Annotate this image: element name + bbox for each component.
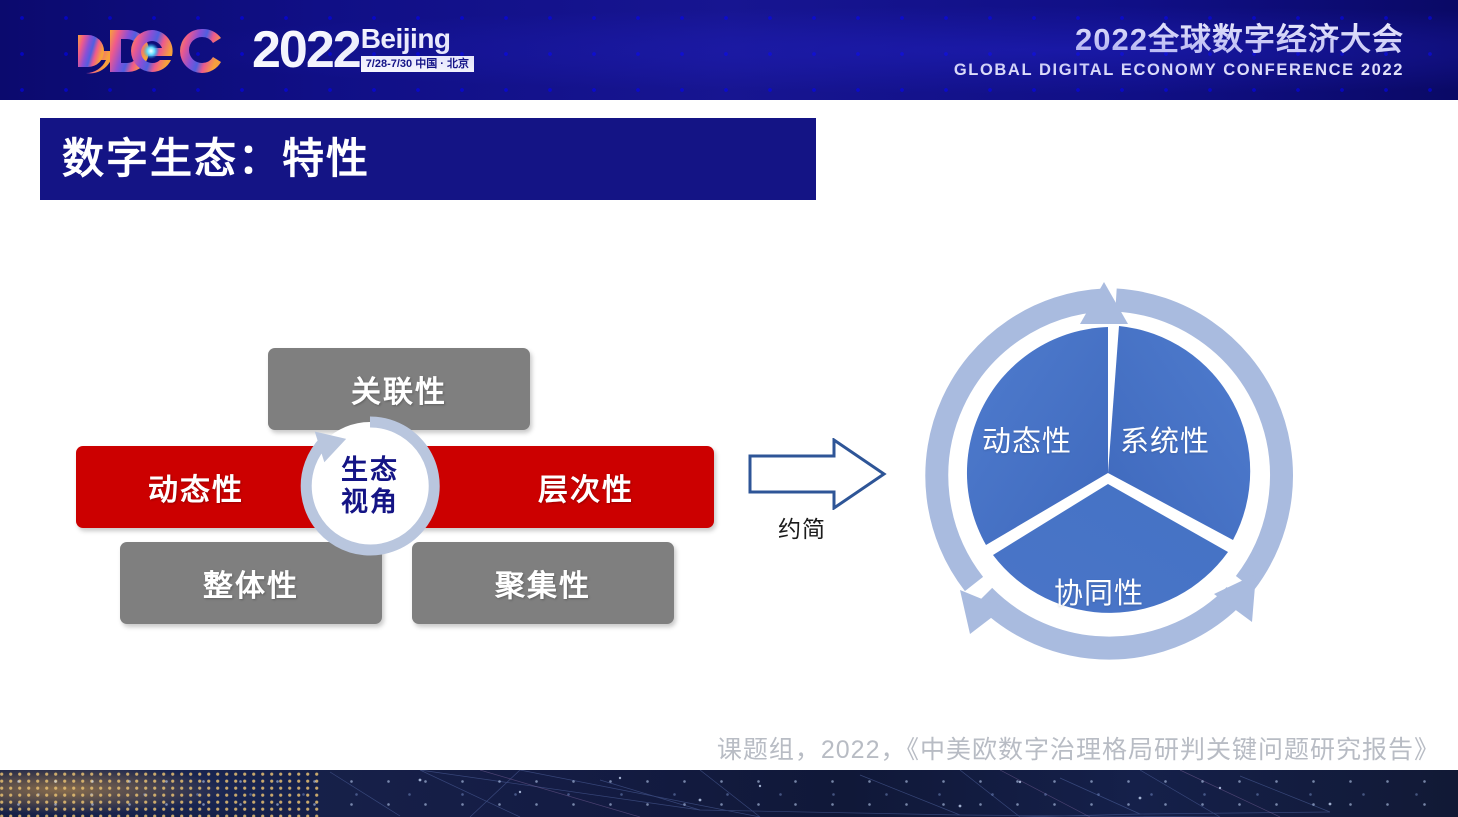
slide-title-bar: 数字生态：特性	[40, 118, 816, 200]
arrow-label: 约简	[778, 510, 826, 544]
segment-label-systemic: 系统性	[1120, 418, 1210, 460]
segment-label-dynamic: 动态性	[982, 418, 1072, 460]
page-title: 数字生态：特性	[62, 136, 370, 182]
banner-dot-pattern	[0, 770, 1458, 817]
brand-date-badge: 7/28-7/30 中国 · 北京	[361, 56, 474, 72]
attribute-box-label: 聚集性	[495, 561, 591, 605]
page-header: 2022 Beijing 7/28-7/30 中国 · 北京 2022全球数字经…	[0, 0, 1458, 100]
attribute-box-aggregation[interactable]: 聚集性	[412, 542, 674, 624]
conference-title-cn: 2022全球数字经济大会	[954, 22, 1404, 58]
reduction-arrow-block: 约简	[748, 438, 898, 550]
center-circle: 生态 视角	[306, 422, 434, 550]
ecology-perspective-diagram: 关联性 动态性 层次性 整体性 聚集性 生态 视角	[60, 330, 740, 650]
three-segment-cycle-diagram: 动态性 系统性 协同性	[908, 278, 1308, 668]
attribute-box-label: 整体性	[203, 561, 299, 605]
gdec-logo	[56, 24, 226, 78]
citation-text: 课题组，2022，《中美欧数字治理格局研判关键问题研究报告》	[717, 730, 1440, 766]
attribute-box-label-dynamic: 动态性	[148, 465, 244, 509]
center-circle-text: 生态 视角	[341, 454, 399, 518]
bottom-banner	[0, 770, 1458, 817]
attribute-box-label-hierarchy: 层次性	[538, 465, 634, 509]
brand-city: Beijing	[361, 24, 451, 54]
attribute-box-label: 关联性	[351, 367, 447, 411]
center-circle-line2: 视角	[341, 486, 399, 518]
right-arrow-icon	[748, 438, 888, 510]
center-circle-line1: 生态	[341, 454, 399, 486]
brand-2022-beijing: 2022 Beijing 7/28-7/30 中国 · 北京	[252, 22, 474, 80]
conference-title-en: GLOBAL DIGITAL ECONOMY CONFERENCE 2022	[954, 60, 1404, 80]
brand-year: 2022	[252, 22, 360, 78]
conference-title: 2022全球数字经济大会 GLOBAL DIGITAL ECONOMY CONF…	[954, 22, 1404, 80]
segment-label-synergy: 协同性	[1054, 570, 1144, 612]
